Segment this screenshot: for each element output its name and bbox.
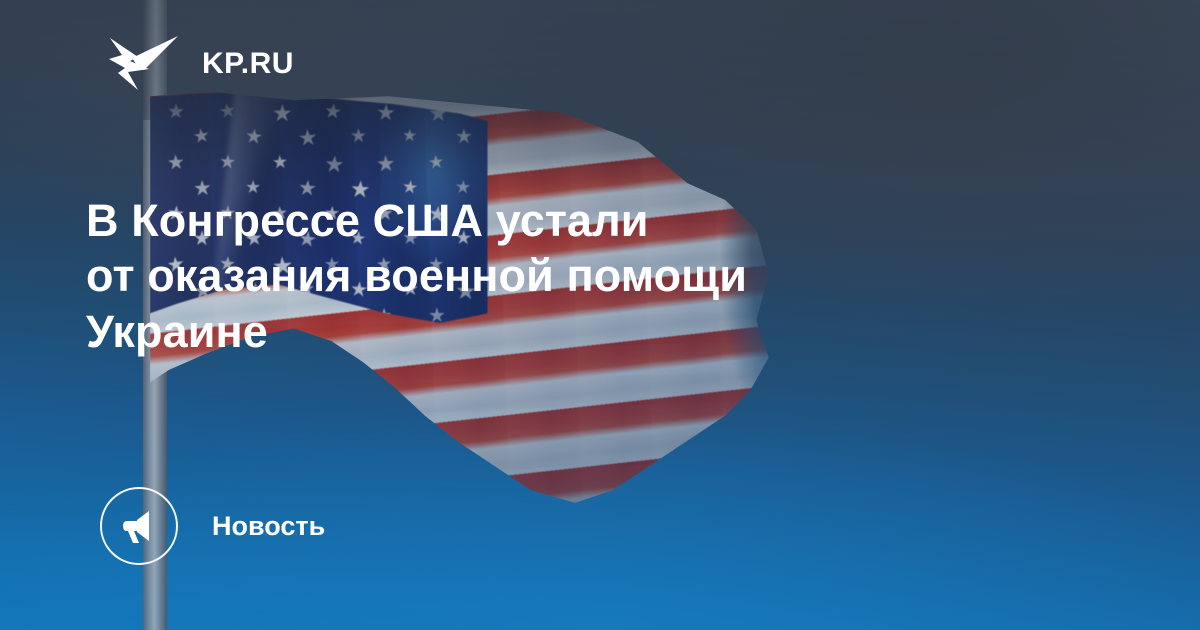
share-card: ★★★★★★★★★★★★★★★★★★★★★★★★★★★★★★★★★★★★★★★★… xyxy=(0,0,1200,630)
brand-logo[interactable]: KP.RU xyxy=(108,36,294,92)
headline: В Конгрессе США устали от оказания военн… xyxy=(86,193,986,359)
headline-line-3: Украине xyxy=(86,304,986,359)
swallow-bird-icon xyxy=(108,36,180,92)
brand-name: KP.RU xyxy=(202,49,294,79)
headline-line-2: от оказания военной помощи xyxy=(86,248,986,303)
megaphone-icon xyxy=(119,506,159,546)
headline-line-1: В Конгрессе США устали xyxy=(86,193,986,248)
badge-circle xyxy=(100,487,178,565)
badge-label: Новость xyxy=(212,513,325,540)
news-badge[interactable]: Новость xyxy=(100,487,325,565)
